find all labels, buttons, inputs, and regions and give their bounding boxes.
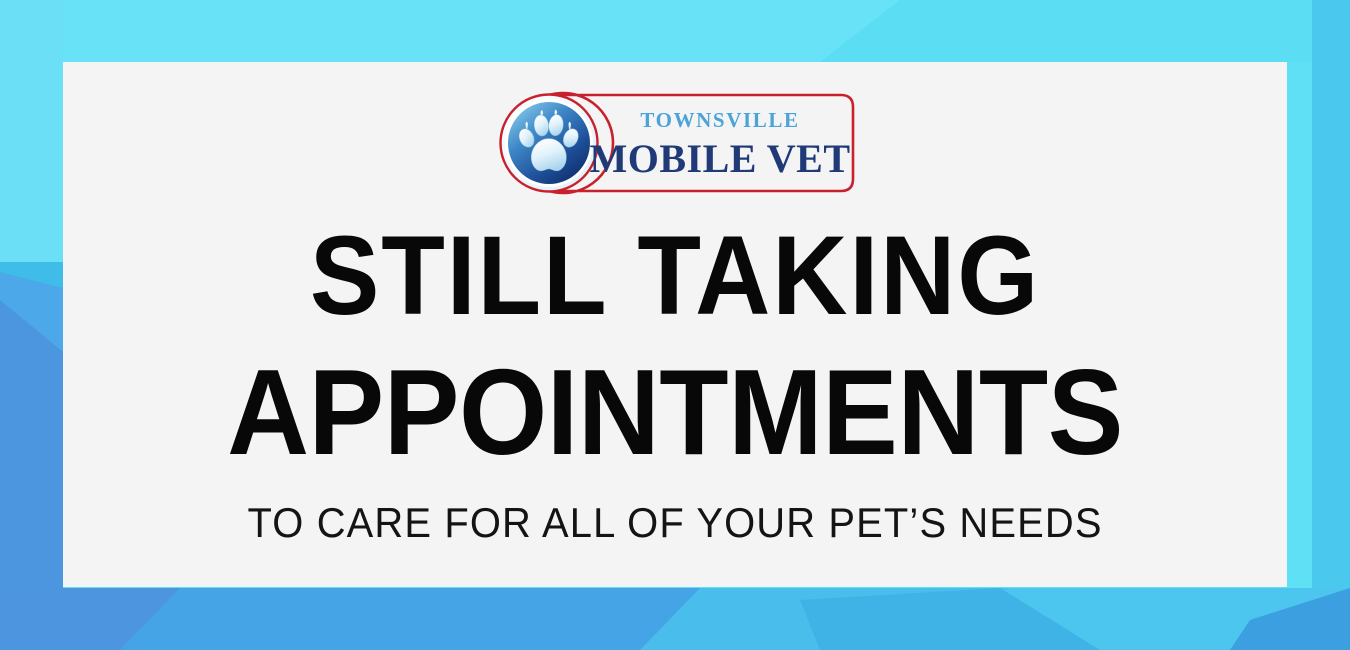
bg-facet-cyan-top-right-facet: [820, 0, 1350, 62]
logo-container: TOWNSVILLE MOBILE VET: [493, 87, 858, 199]
logo-text-mobile-vet: MOBILE VET: [589, 136, 850, 181]
townsville-mobile-vet-logo: TOWNSVILLE MOBILE VET: [493, 87, 858, 199]
headline-line-1: STILL TAKING: [106, 221, 1244, 331]
bg-facet-cyan-far-right-strip: [1312, 0, 1350, 650]
headline-group: STILL TAKING APPOINTMENTS: [63, 221, 1287, 472]
bg-facet-left-cyan-upper: [0, 0, 63, 262]
bg-facet-cyan-top-left-wedge: [0, 0, 900, 62]
subtitle-text: TO CARE FOR ALL OF YOUR PET’S NEEDS: [247, 502, 1102, 544]
headline-line-2: APPOINTMENTS: [106, 353, 1244, 473]
bg-facet-bottom-blue-mid: [120, 588, 700, 650]
poster-canvas: TOWNSVILLE MOBILE VET STILL TAKING APPOI…: [0, 0, 1350, 650]
content-card: TOWNSVILLE MOBILE VET STILL TAKING APPOI…: [63, 62, 1287, 587]
logo-text-townsville: TOWNSVILLE: [640, 108, 799, 132]
